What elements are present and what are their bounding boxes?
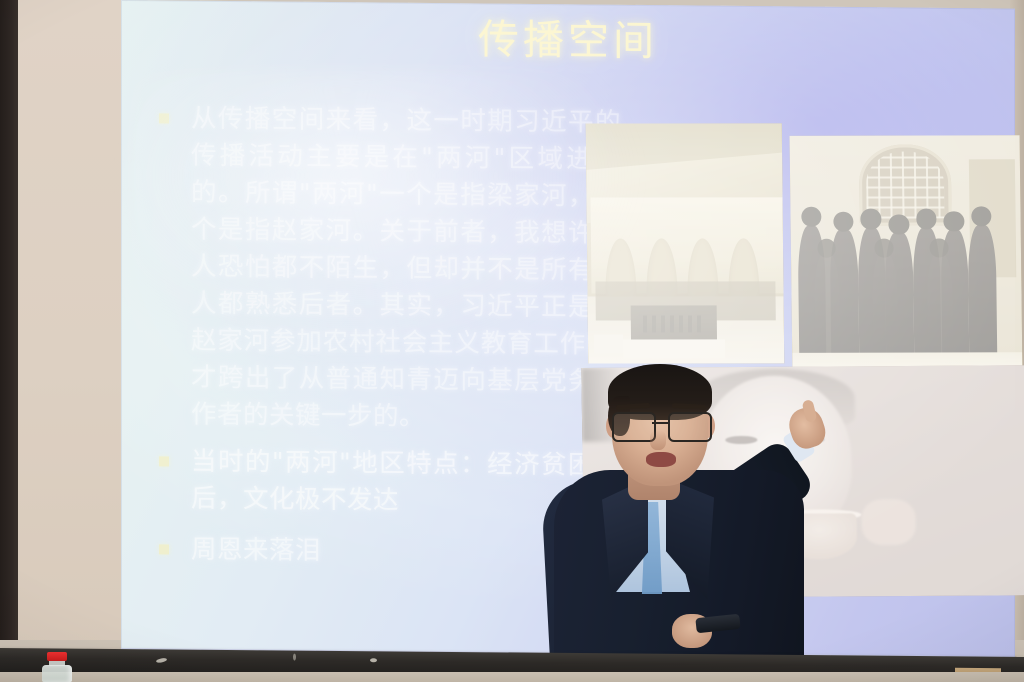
photo-person [814, 254, 841, 363]
glasses-bridge [652, 422, 668, 424]
photo-person [927, 253, 954, 362]
photo-monument-base [594, 335, 624, 354]
photo-person-head [875, 238, 894, 257]
slide-title: 传播空间 [121, 14, 1015, 68]
bottle-body [42, 665, 72, 682]
presenter-mouth [646, 452, 676, 467]
square-bullet-icon [159, 456, 169, 466]
ledge-chalk-mark [156, 657, 168, 663]
photo-person-head [930, 238, 949, 257]
floor-strip [0, 672, 1024, 682]
photo-person [968, 225, 997, 362]
lecture-photo-scene: 传播空间 从传播空间来看，这一时期习近平的传播活动主要是在"两河"区域进行的。所… [0, 0, 1024, 682]
left-dark-wall-edge [0, 0, 19, 682]
left-beige-wall [18, 0, 126, 660]
square-bullet-icon [159, 113, 169, 123]
photo-portrait-hand [861, 499, 915, 545]
glasses-lens [668, 412, 712, 442]
presenter-nose [650, 430, 666, 450]
presenter [520, 352, 840, 682]
photo-person-head [817, 239, 836, 258]
ledge-chalk-mark [293, 654, 296, 661]
water-bottle [40, 652, 74, 682]
photo-window-lattice [866, 151, 944, 219]
photo-person [872, 254, 899, 363]
photo-plaque-inscription [643, 315, 706, 332]
group-portrait-photo [790, 135, 1023, 372]
square-bullet-icon [159, 544, 169, 554]
bottle-cap [47, 652, 67, 661]
ledge-chalk-mark [370, 658, 377, 662]
stone-building-photo [586, 123, 785, 363]
